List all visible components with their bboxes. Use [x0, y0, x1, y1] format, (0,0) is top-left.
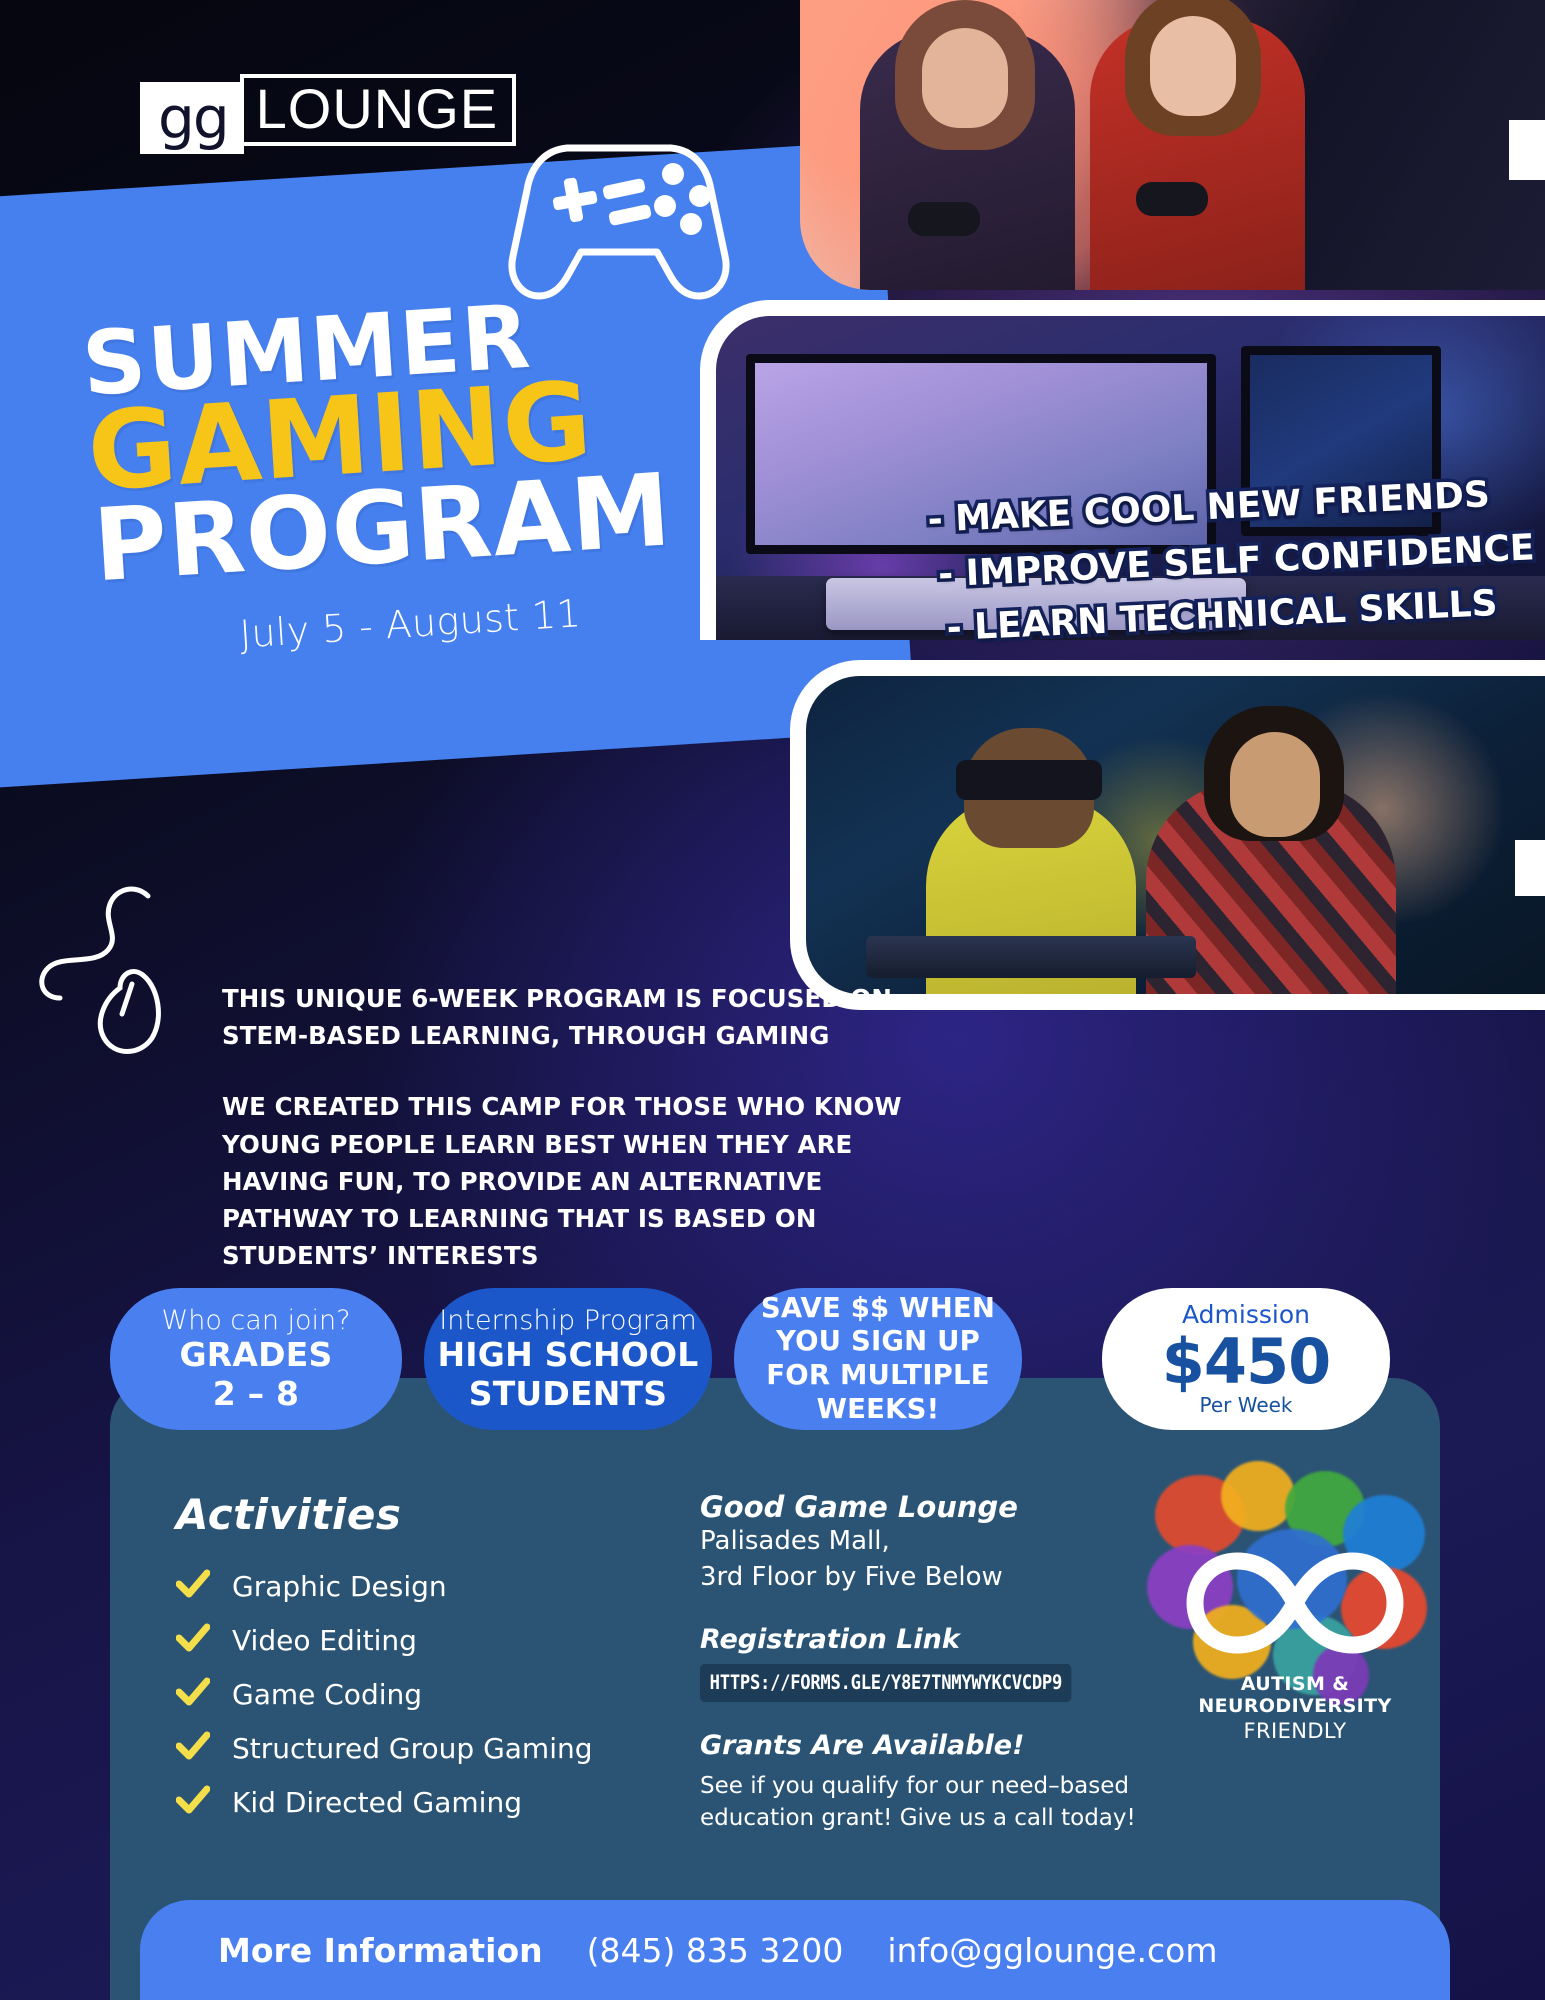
- body-paragraph-2: WE CREATED THIS CAMP FOR THOSE WHO KNOW …: [222, 1088, 902, 1274]
- activities-section: Activities Graphic Design Video Editing …: [176, 1490, 576, 1829]
- pill-1-main2: 2 – 8: [213, 1375, 299, 1414]
- footer-label: More Information: [218, 1931, 543, 1970]
- list-item: Structured Group Gaming: [176, 1721, 576, 1775]
- logo-mark: gg: [140, 82, 244, 154]
- body-paragraph-1: THIS UNIQUE 6-WEEK PROGRAM IS FOCUSED ON…: [222, 980, 902, 1054]
- check-icon: [176, 1731, 210, 1766]
- edge-notch-mid: [1515, 840, 1545, 896]
- pill-admission-price[interactable]: Admission $450 Per Week: [1102, 1288, 1390, 1430]
- infinity-icon: [1185, 1547, 1405, 1664]
- body-copy: THIS UNIQUE 6-WEEK PROGRAM IS FOCUSED ON…: [222, 980, 902, 1275]
- brand-logo[interactable]: gg LOUNGE: [140, 74, 516, 146]
- activities-heading: Activities: [176, 1490, 576, 1539]
- activity-label: Video Editing: [232, 1624, 417, 1657]
- kid-a-face: [922, 28, 1008, 128]
- autism-badge-text: AUTISM & NEURODIVERSITY FRIENDLY: [1145, 1673, 1445, 1743]
- game-controller-icon: [505, 120, 735, 310]
- paint-splatter: [1221, 1461, 1295, 1531]
- list-item: Game Coding: [176, 1667, 576, 1721]
- photo-vr-students: [790, 660, 1545, 1010]
- autism-friendly-badge: AUTISM & NEURODIVERSITY FRIENDLY: [1145, 1455, 1445, 1755]
- registration-url[interactable]: HTTPS://FORMS.GLE/Y8E7TNMYWYKCVCDP9: [700, 1664, 1072, 1702]
- vr-keyboard: [866, 936, 1196, 978]
- student-b-face: [1230, 732, 1320, 837]
- footer-phone[interactable]: (845) 835 3200: [587, 1931, 844, 1970]
- gamepad-b-icon: [1136, 182, 1208, 216]
- gamepad-a-icon: [908, 202, 980, 236]
- pill-who-can-join[interactable]: Who can join? GRADES 2 – 8: [110, 1288, 402, 1430]
- venue-address-line2: 3rd Floor by Five Below: [700, 1560, 1160, 1596]
- edge-notch-top: [1509, 120, 1545, 180]
- pill-3-main2: YOU SIGN UP: [776, 1325, 980, 1359]
- pill-2-main2: STUDENTS: [469, 1375, 668, 1414]
- list-item: Video Editing: [176, 1613, 576, 1667]
- footer-contact-bar: More Information (845) 835 3200 info@ggl…: [140, 1900, 1450, 2000]
- highlight-pill-row: Who can join? GRADES 2 – 8 Internship Pr…: [110, 1288, 1440, 1430]
- activity-label: Game Coding: [232, 1678, 422, 1711]
- contact-section: Good Game Lounge Palisades Mall, 3rd Flo…: [700, 1490, 1160, 1835]
- grants-line1: See if you qualify for our need–based: [700, 1770, 1160, 1803]
- autism-badge-line1: AUTISM & NEURODIVERSITY: [1145, 1673, 1445, 1717]
- registration-heading: Registration Link: [700, 1624, 1160, 1655]
- admission-period: Per Week: [1199, 1393, 1292, 1417]
- pill-2-main: HIGH SCHOOL: [437, 1336, 698, 1375]
- photo-kids-gaming: [800, 0, 1545, 290]
- pill-3-main: SAVE $$ WHEN: [761, 1292, 995, 1326]
- pill-1-sub: Who can join?: [162, 1305, 351, 1336]
- flyer-root: SUMMER GAMING PROGRAM July 5 - August 11…: [0, 0, 1545, 2000]
- spacer: [700, 1596, 1160, 1624]
- autism-badge-line2: FRIENDLY: [1145, 1719, 1445, 1743]
- computer-mouse-icon: [28, 880, 178, 1065]
- venue-address-line1: Palisades Mall,: [700, 1524, 1160, 1560]
- kid-b-face: [1150, 16, 1236, 116]
- activity-label: Structured Group Gaming: [232, 1732, 593, 1765]
- pill-3-main4: WEEKS!: [817, 1393, 940, 1427]
- activities-list: Graphic Design Video Editing Game Coding…: [176, 1559, 576, 1829]
- pill-3-main3: FOR MULTIPLE: [766, 1359, 989, 1393]
- check-icon: [176, 1677, 210, 1712]
- hero-title-block: SUMMER GAMING PROGRAM July 5 - August 11: [80, 278, 820, 666]
- venue-name: Good Game Lounge: [700, 1490, 1160, 1524]
- activity-label: Kid Directed Gaming: [232, 1786, 522, 1819]
- logo-wordmark: LOUNGE: [240, 74, 517, 146]
- check-icon: [176, 1785, 210, 1820]
- pill-1-main: GRADES: [180, 1336, 333, 1375]
- grants-heading: Grants Are Available!: [700, 1730, 1160, 1761]
- vr-headset-icon: [956, 760, 1102, 800]
- spacer: [700, 1702, 1160, 1730]
- footer-email[interactable]: info@gglounge.com: [887, 1931, 1217, 1970]
- pill-2-sub: Internship Program: [439, 1305, 696, 1336]
- grants-line2: education grant! Give us a call today!: [700, 1802, 1160, 1835]
- pill-multi-week-savings[interactable]: SAVE $$ WHEN YOU SIGN UP FOR MULTIPLE WE…: [734, 1288, 1022, 1430]
- admission-price: $450: [1162, 1330, 1331, 1393]
- check-icon: [176, 1569, 210, 1604]
- check-icon: [176, 1623, 210, 1658]
- benefits-overlay: - MAKE COOL NEW FRIENDS - IMPROVE SELF C…: [927, 466, 1539, 657]
- pill-internship-program[interactable]: Internship Program HIGH SCHOOL STUDENTS: [424, 1288, 712, 1430]
- list-item: Kid Directed Gaming: [176, 1775, 576, 1829]
- activity-label: Graphic Design: [232, 1570, 447, 1603]
- list-item: Graphic Design: [176, 1559, 576, 1613]
